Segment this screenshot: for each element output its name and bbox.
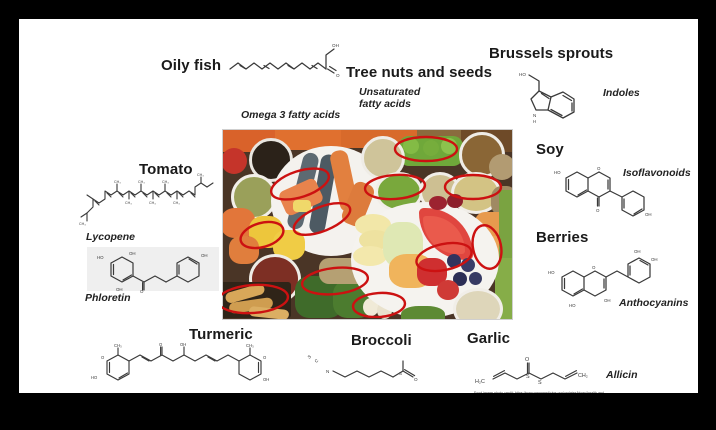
atom-label-oh-enol: OH <box>180 342 186 347</box>
atom-label-ho: HO <box>97 255 104 260</box>
food-label-tree-nuts: Tree nuts and seeds <box>346 64 492 81</box>
structure-allicin: H₂C O S S CH₂ <box>471 353 611 389</box>
atom-label-c-isothiocyanate: C <box>314 357 320 363</box>
atom-label-nh-hydrogen: H <box>533 119 536 124</box>
atom-label-oh-b2: OH <box>651 257 658 262</box>
atom-label-oh-c3: OH <box>604 298 611 303</box>
atom-label-ch3-4: CH₃ <box>125 201 132 205</box>
atom-label-ch3-left: CH₃ <box>114 343 122 348</box>
compound-label-unsaturated-line2: fatty acids <box>359 99 439 111</box>
food-label-garlic: Garlic <box>467 330 510 347</box>
atom-label-s-sulfoxide: S <box>399 371 402 376</box>
atom-label-o-ketone: O <box>159 342 163 347</box>
compound-label-lycopene: Lycopene <box>86 231 135 243</box>
atom-label-ho-left: HO <box>91 375 98 380</box>
atom-label-ho: HO <box>554 170 561 175</box>
atom-label-o-ring: O <box>592 265 596 270</box>
atom-label-o-carbonyl: O <box>596 208 600 213</box>
atom-label-o-right-ether: O <box>263 355 267 360</box>
slide-canvas: Oily fish OH O Omega 3 fatty acids Tree … <box>19 19 698 393</box>
compound-label-isoflavonoids: Isoflavonoids <box>623 167 691 179</box>
atom-label-s-1: S <box>526 374 530 380</box>
atom-label-oh-b1: OH <box>634 249 641 254</box>
atom-label-oh-top: OH <box>129 251 136 256</box>
atom-label-ch2-right: CH₂ <box>578 373 588 379</box>
food-label-brussels-sprouts: Brussels sprouts <box>489 45 613 62</box>
structure-lycopene: CH₃ CH₃ CH₃ CH₃ CH₃ CH₃ CH₃ CH₃ <box>79 179 219 229</box>
atom-label-ch3-8: CH₃ <box>197 173 204 177</box>
compound-label-unsaturated-line1: Unsaturated <box>359 87 439 99</box>
atom-label-ch3-3: CH₃ <box>162 180 169 184</box>
atom-label-ch3-6: CH₃ <box>173 201 180 205</box>
atom-label-ch3-7: CH₃ <box>79 222 86 226</box>
compound-label-phloretin: Phloretin <box>85 292 131 304</box>
atom-label-ho-a: HO <box>548 270 555 275</box>
atom-label-o-ring: O <box>597 166 601 171</box>
food-label-tomato: Tomato <box>139 161 193 178</box>
compound-label-indoles: Indoles <box>603 87 640 99</box>
structure-phloretin: HO OH OH O OH <box>91 249 217 293</box>
atom-label-o-carbonyl: O <box>140 289 144 294</box>
compound-label-omega3: Omega 3 fatty acids <box>241 109 340 121</box>
atom-label-oh: OH <box>645 212 652 217</box>
atom-label-oh-right: OH <box>263 377 269 382</box>
compound-label-allicin: Allicin <box>606 369 638 381</box>
atom-label-ch3-right: CH₃ <box>246 343 254 348</box>
atom-label-s-isothiocyanate: S <box>307 354 312 360</box>
atom-label-ho-b: HO <box>569 303 576 308</box>
atom-label-o-sulfoxide: O <box>525 357 529 363</box>
atom-label-n: N <box>533 113 536 118</box>
food-label-oily-fish: Oily fish <box>161 57 221 74</box>
atom-label-ch3-5: CH₃ <box>149 201 156 205</box>
atom-label-h2c-left: H₂C <box>475 379 485 385</box>
atom-label-oh-right: OH <box>201 253 208 258</box>
compound-label-anthocyanins: Anthocyanins <box>619 297 688 309</box>
food-label-turmeric: Turmeric <box>189 326 253 343</box>
structure-omega3-fatty-acid: OH O <box>228 39 348 87</box>
structure-indole-3-carbinol: HO N H <box>517 67 593 129</box>
food-label-soy: Soy <box>536 141 564 158</box>
atom-label-o-left-ether: O <box>101 355 105 360</box>
atom-label-ch3-1: CH₃ <box>114 180 121 184</box>
structure-sulforaphane: S C N S O <box>307 349 427 391</box>
food-label-broccoli: Broccoli <box>351 332 412 349</box>
atom-label-s-2: S <box>538 380 542 386</box>
atom-label-ch3-2: CH₃ <box>138 180 145 184</box>
atom-label-ho: HO <box>519 72 526 77</box>
photo-credit-text: Food image photo credit: https://www.pen… <box>474 391 624 393</box>
atom-label-oh: OH <box>332 43 339 48</box>
food-label-berries: Berries <box>536 229 588 246</box>
structure-curcumin: CH₃ O HO O OH CH₃ O OH <box>87 345 287 393</box>
atom-label-o: O <box>336 73 340 78</box>
food-photograph <box>222 129 513 320</box>
atom-label-n-isothiocyanate: N <box>326 369 329 374</box>
atom-label-o-sulfoxide: O <box>414 377 418 382</box>
